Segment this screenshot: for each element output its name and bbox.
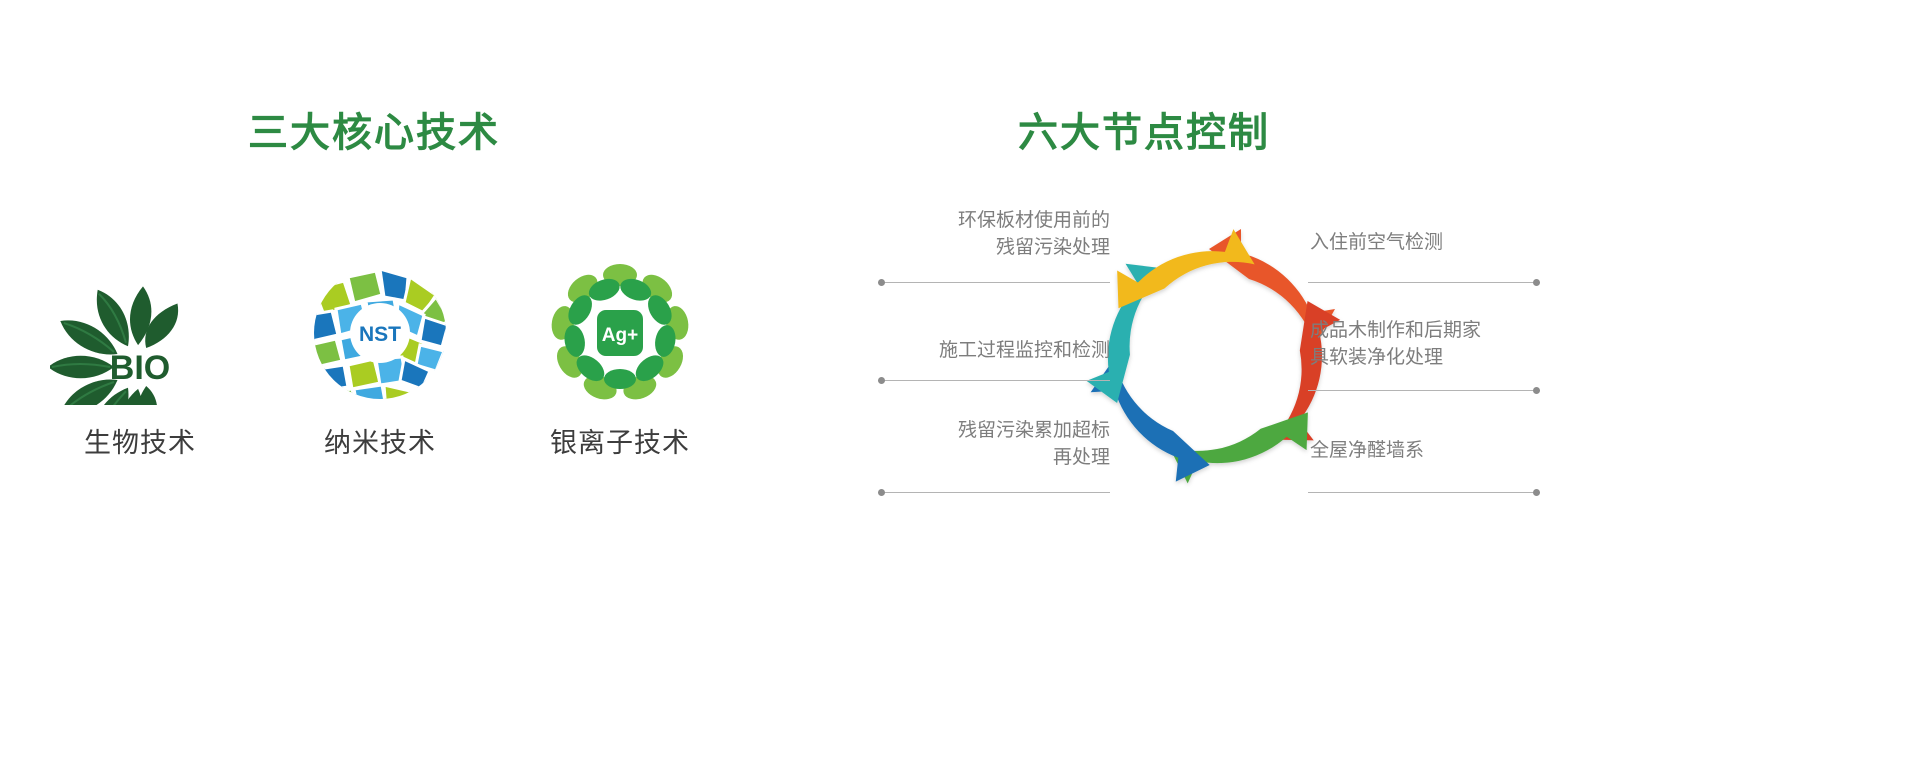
node-label-2: 残留污染累加超标 再处理 [860,418,1110,472]
node-leader-line-3 [1308,282,1540,283]
core-technology-list: BIO 生物技术 [30,255,730,505]
leader-dot-2 [878,489,885,496]
node-leader-line-2 [878,492,1110,493]
six-node-control-diagram: 环保板材使用前的 残留污染处理 施工过程监控和检测 残留污染累加超标 再处理 入… [840,190,1560,550]
node-label-4-line-1: 具软装净化处理 [1310,345,1560,372]
nano-mosaic-sphere-icon: NST [290,255,470,405]
silver-ion-leaves-icon: Ag+ [530,255,710,405]
node-label-2-line-1: 再处理 [860,445,1110,472]
node-label-1-line-0: 施工过程监控和检测 [840,338,1110,365]
node-label-5-line-0: 全屋净醛墙系 [1310,438,1560,465]
tech-caption-bio: 生物技术 [84,421,196,460]
leader-dot-4 [1533,387,1540,394]
tech-caption-nano: 纳米技术 [324,421,436,460]
node-label-3-line-0: 入住前空气检测 [1310,230,1560,257]
tech-item-silver-ion: Ag+ 银离子技术 [510,255,730,460]
node-leader-line-0 [878,282,1110,283]
leaf-wreath-bio-icon: BIO [50,255,230,405]
agplus-mark-text: Ag+ [602,325,638,346]
bio-mark-text: BIO [110,349,170,387]
tech-caption-silver-ion: 银离子技术 [550,421,690,460]
leader-dot-5 [1533,489,1540,496]
node-label-4-line-0: 成品木制作和后期家 [1310,318,1560,345]
left-section-title: 三大核心技术 [248,100,500,158]
node-leader-line-5 [1308,492,1540,493]
right-section-title: 六大节点控制 [1018,100,1270,158]
node-label-1: 施工过程监控和检测 [840,338,1110,365]
leader-dot-1 [878,377,885,384]
node-leader-line-1 [878,380,1110,381]
infographic-canvas: 三大核心技术 六大节点控制 [0,0,1920,784]
node-label-0-line-0: 环保板材使用前的 [860,208,1110,235]
node-label-0: 环保板材使用前的 残留污染处理 [860,208,1110,262]
node-leader-line-4 [1308,390,1540,391]
leader-dot-0 [878,279,885,286]
tech-item-bio: BIO 生物技术 [30,255,250,460]
node-label-0-line-1: 残留污染处理 [860,235,1110,262]
node-label-2-line-0: 残留污染累加超标 [860,418,1110,445]
nst-mark-text: NST [359,323,401,346]
tech-item-nano: NST 纳米技术 [270,255,490,460]
node-label-3: 入住前空气检测 [1310,230,1560,257]
node-label-5: 全屋净醛墙系 [1310,438,1560,465]
node-label-4: 成品木制作和后期家 具软装净化处理 [1310,318,1560,372]
leader-dot-3 [1533,279,1540,286]
